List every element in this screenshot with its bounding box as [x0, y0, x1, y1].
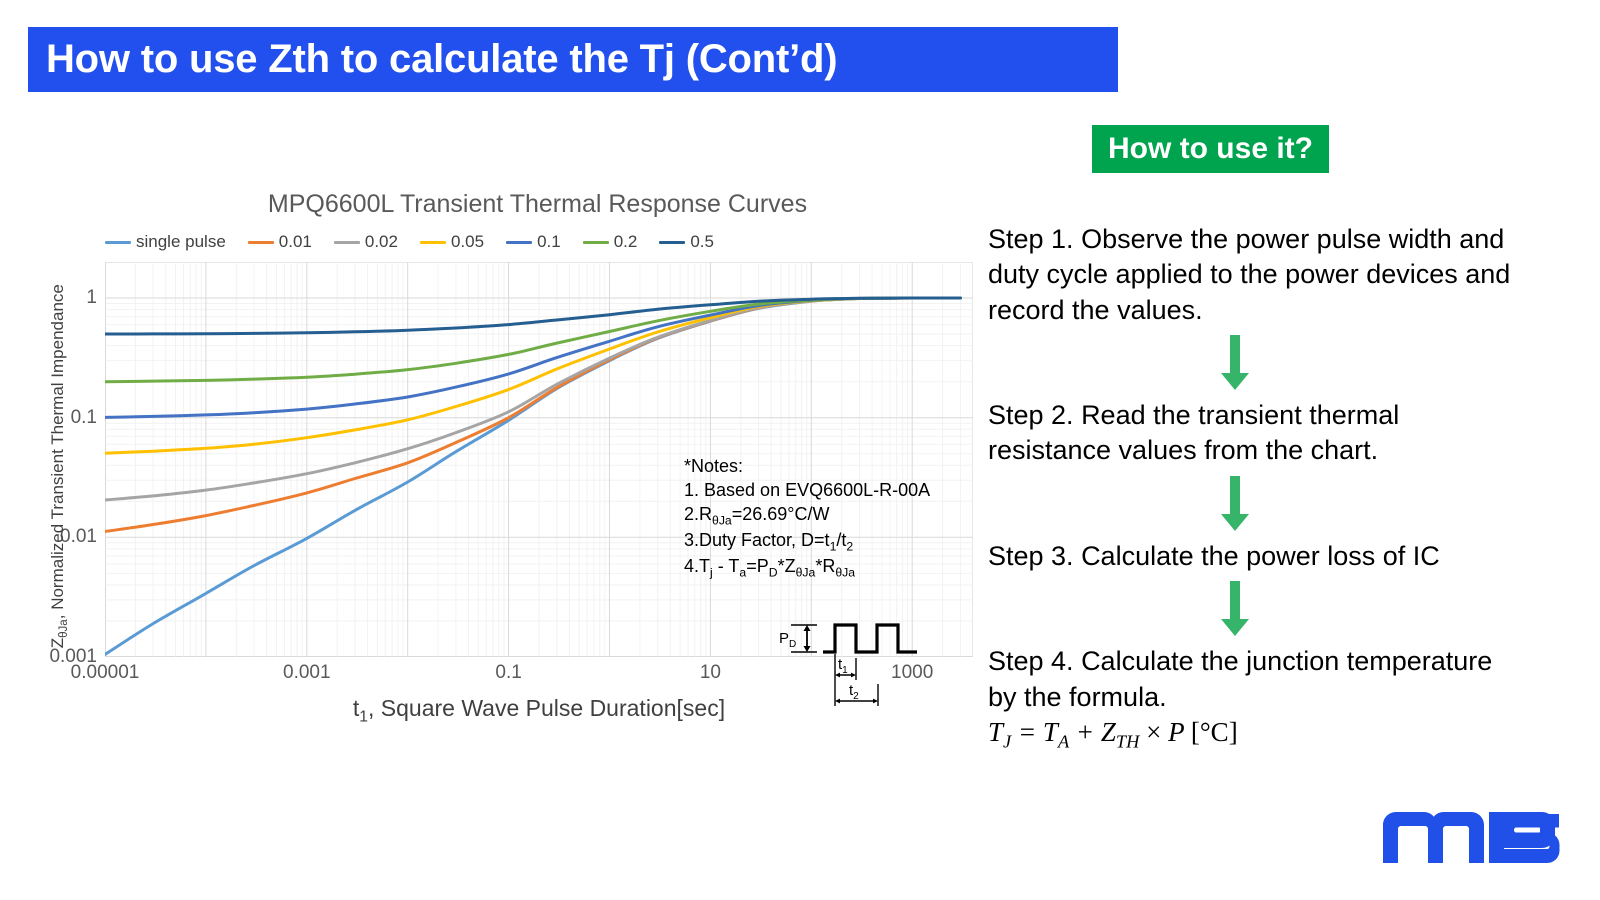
x-tick-label: 0.00001 [71, 662, 140, 684]
note-item-2: 2.RθJa=26.69°C/W [684, 503, 964, 529]
legend-item-0-02[interactable]: 0.02 [334, 232, 398, 252]
step-4-text: Step 4. Calculate the junction temperatu… [988, 644, 1528, 715]
legend-swatch-icon [105, 241, 131, 244]
square-wave [823, 625, 917, 652]
y-tick-label: 1 [86, 287, 97, 309]
note-item-3: 3.Duty Factor, D=t1/t2 [684, 529, 964, 555]
arrow-2-row [988, 469, 1528, 539]
notes-header: *Notes: [684, 455, 964, 479]
legend-label: 0.5 [690, 232, 714, 252]
legend-label: 0.2 [614, 232, 638, 252]
mps-logo-svg [1383, 812, 1563, 864]
y-tick-label: 0.1 [71, 407, 97, 429]
legend-item-0-1[interactable]: 0.1 [506, 232, 561, 252]
y-axis-title: ZθJa, Normalized Transient Thermal Impen… [48, 266, 70, 666]
down-arrow-icon [1220, 476, 1250, 532]
step-2-text: Step 2. Read the transient thermal resis… [988, 398, 1528, 469]
legend-label: 0.01 [279, 232, 312, 252]
legend-swatch-icon [420, 241, 446, 244]
x-tick-label: 10 [700, 662, 721, 684]
legend-swatch-icon [659, 241, 685, 244]
step-3-text: Step 3. Calculate the power loss of IC [988, 539, 1528, 574]
legend-item-single-pulse[interactable]: single pulse [105, 232, 226, 252]
legend-item-0-05[interactable]: 0.05 [420, 232, 484, 252]
chart-notes: *Notes: 1. Based on EVQ6600L-R-00A 2.RθJ… [684, 455, 964, 580]
legend-item-0-2[interactable]: 0.2 [583, 232, 638, 252]
chart-legend: single pulse0.010.020.050.10.20.5 [105, 232, 714, 252]
legend-label: 0.05 [451, 232, 484, 252]
steps-list: Step 1. Observe the power pulse width an… [988, 222, 1528, 752]
x-tick-label: 0.1 [495, 662, 521, 684]
arrow-3-row [988, 574, 1528, 644]
down-arrow-icon [1220, 335, 1250, 391]
how-to-use-badge: How to use it? [1092, 125, 1329, 173]
note-item-1: 1. Based on EVQ6600L-R-00A [684, 479, 964, 503]
pd-arrow-head-up [804, 625, 811, 631]
legend-swatch-icon [334, 241, 360, 244]
chart-title: MPQ6600L Transient Thermal Response Curv… [10, 190, 985, 219]
mps-logo [1383, 812, 1563, 864]
page-title: How to use Zth to calculate the Tj (Cont… [28, 37, 837, 82]
legend-label: 0.1 [537, 232, 561, 252]
x-axis-title: t1, Square Wave Pulse Duration[sec] [105, 695, 973, 727]
x-tick-label: 1000 [891, 662, 933, 684]
legend-swatch-icon [506, 241, 532, 244]
down-arrow-icon [1220, 581, 1250, 637]
legend-label: 0.02 [365, 232, 398, 252]
pd-arrow-head-down [804, 646, 811, 652]
step-1-text: Step 1. Observe the power pulse width an… [988, 222, 1528, 328]
pd-label: PD [779, 630, 796, 650]
legend-label: single pulse [136, 232, 226, 252]
x-axis-tick-labels: 0.000010.0010.1101000 [105, 662, 973, 688]
how-to-use-badge-label: How to use it? [1108, 132, 1313, 166]
note-item-4: 4.Tj - Ta=PD*ZθJa*RθJa [684, 555, 964, 581]
x-tick-label: 0.001 [283, 662, 331, 684]
legend-swatch-icon [248, 241, 274, 244]
legend-item-0-5[interactable]: 0.5 [659, 232, 714, 252]
junction-temperature-formula: TJ = TA + ZTH × P [°C] [988, 717, 1528, 752]
arrow-1-row [988, 328, 1528, 398]
slide-title-banner: How to use Zth to calculate the Tj (Cont… [28, 27, 1118, 92]
legend-swatch-icon [583, 241, 609, 244]
legend-item-0-01[interactable]: 0.01 [248, 232, 312, 252]
